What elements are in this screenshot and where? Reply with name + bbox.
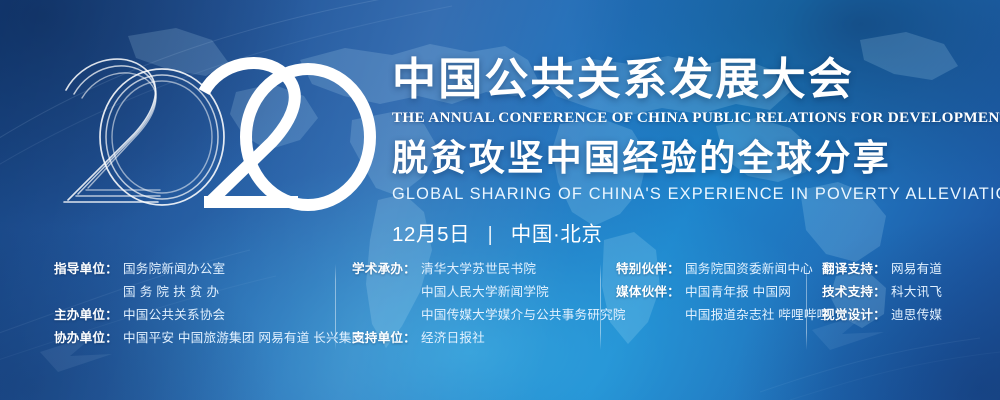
credit-value: 科大讯飞 xyxy=(891,281,942,300)
credit-row: 支持单位：经济日报社 xyxy=(352,327,626,346)
event-date: 12月5日 xyxy=(392,223,470,246)
credit-row: 特别伙伴：国务院国资委新闻中心 xyxy=(616,258,829,277)
credit-value: 国务院国资委新闻中心 xyxy=(685,258,813,277)
event-location: 中国·北京 xyxy=(511,223,603,246)
credit-row: 媒体伙伴：中国青年报 中国网 xyxy=(616,281,829,300)
date-separator: | xyxy=(477,223,505,247)
credit-row: 学术承办：中国传媒大学媒介与公共事务研究院 xyxy=(352,304,626,323)
credit-label: 学术承办： xyxy=(352,258,414,277)
credit-label: 视觉设计： xyxy=(822,304,884,323)
credit-row: 翻译支持：网易有道 xyxy=(822,258,942,277)
credits-column-academic: 学术承办：清华大学苏世民书院学术承办：中国人民大学新闻学院学术承办：中国传媒大学… xyxy=(352,258,626,350)
credit-row: 媒体伙伴：中国报道杂志社 哔哩哔哩 xyxy=(616,304,829,323)
credit-label: 技术支持： xyxy=(822,281,884,300)
credits-column-organizers: 指导单位：国务院新闻办公室指导单位：国务院扶贫办主办单位：中国公共关系协会协办单… xyxy=(54,258,364,350)
title-block: 中国公共关系发展大会 THE ANNUAL CONFERENCE OF CHIN… xyxy=(392,56,958,247)
credit-value: 中国人民大学新闻学院 xyxy=(421,281,549,300)
credit-label: 媒体伙伴： xyxy=(616,281,678,300)
credit-value: 经济日报社 xyxy=(421,327,485,346)
credits-column-support: 翻译支持：网易有道技术支持：科大讯飞视觉设计：迪思传媒 xyxy=(822,258,942,327)
credit-value: 国务院新闻办公室 xyxy=(123,258,225,277)
credit-row: 视觉设计：迪思传媒 xyxy=(822,304,942,323)
credit-value: 中国报道杂志社 哔哩哔哩 xyxy=(685,304,829,323)
credit-row: 指导单位：国务院扶贫办 xyxy=(54,281,364,300)
credit-label: 协办单位： xyxy=(54,327,116,346)
credit-label: 支持单位： xyxy=(352,327,414,346)
credit-value: 国务院扶贫办 xyxy=(123,281,223,300)
credit-value: 中国传媒大学媒介与公共事务研究院 xyxy=(421,304,626,323)
credit-row: 学术承办：清华大学苏世民书院 xyxy=(352,258,626,277)
title-english-sub: GLOBAL SHARING OF CHINA'S EXPERIENCE IN … xyxy=(392,185,958,204)
credit-row: 指导单位：国务院新闻办公室 xyxy=(54,258,364,277)
credit-label: 指导单位： xyxy=(54,258,116,277)
credit-label: 特别伙伴： xyxy=(616,258,678,277)
event-date-location: 12月5日 | 中国·北京 xyxy=(392,217,958,247)
credit-label: 主办单位： xyxy=(54,304,116,323)
conference-banner: 中国公共关系发展大会 THE ANNUAL CONFERENCE OF CHIN… xyxy=(0,0,1000,400)
logo-2020 xyxy=(52,42,400,232)
credit-value: 中国青年报 中国网 xyxy=(685,281,791,300)
credit-value: 网易有道 xyxy=(891,258,942,277)
credits-section: 指导单位：国务院新闻办公室指导单位：国务院扶贫办主办单位：中国公共关系协会协办单… xyxy=(0,258,1000,368)
credit-row: 主办单位：中国公共关系协会 xyxy=(54,304,364,323)
credit-row: 学术承办：中国人民大学新闻学院 xyxy=(352,281,626,300)
credit-row: 协办单位：中国平安 中国旅游集团 网易有道 长兴集团 xyxy=(54,327,364,346)
title-chinese-sub: 脱贫攻坚中国经验的全球分享 xyxy=(392,139,958,179)
credit-value: 中国平安 中国旅游集团 网易有道 长兴集团 xyxy=(123,327,364,346)
title-chinese-main: 中国公共关系发展大会 xyxy=(392,56,958,104)
credit-value: 迪思传媒 xyxy=(891,304,942,323)
credit-value: 中国公共关系协会 xyxy=(123,304,225,323)
credit-row: 技术支持：科大讯飞 xyxy=(822,281,942,300)
title-english-main: THE ANNUAL CONFERENCE OF CHINA PUBLIC RE… xyxy=(392,109,958,127)
credit-value: 清华大学苏世民书院 xyxy=(421,258,536,277)
credit-label: 翻译支持： xyxy=(822,258,884,277)
credits-column-partners: 特别伙伴：国务院国资委新闻中心媒体伙伴：中国青年报 中国网媒体伙伴：中国报道杂志… xyxy=(616,258,829,327)
